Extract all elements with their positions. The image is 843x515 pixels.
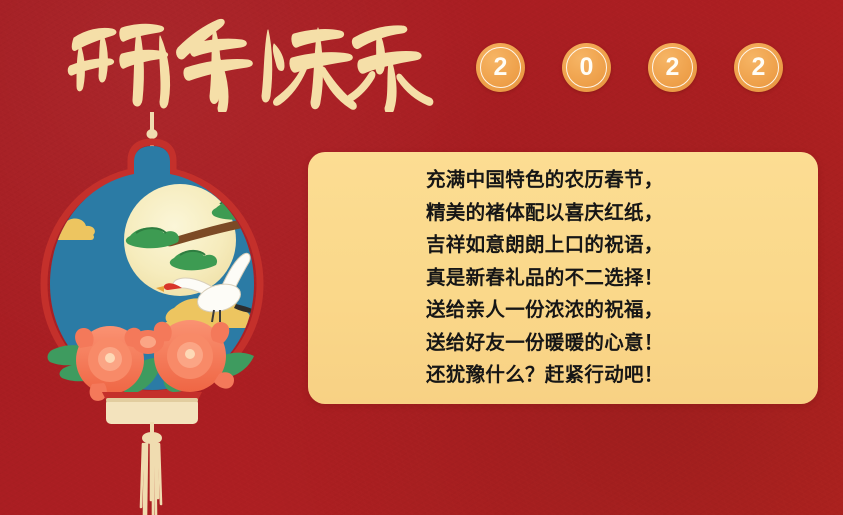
peony-bud	[132, 330, 164, 354]
message-line: 精美的褚体配以喜庆红纸，	[426, 197, 818, 230]
year-digit: 2	[666, 55, 680, 80]
lantern-tassel	[141, 422, 162, 515]
year-digit: 0	[580, 55, 594, 80]
message-line: 送给亲人一份浓浓的祝福，	[426, 294, 818, 327]
year-badge-digit-4: 2	[734, 43, 783, 92]
year-badge-group: 2 0 2 2	[476, 43, 783, 92]
lantern-base	[102, 392, 202, 424]
year-badge-digit-2: 0	[562, 43, 611, 92]
message-line: 真是新春礼品的不二选择！	[426, 262, 818, 295]
message-line: 充满中国特色的农历春节，	[426, 164, 818, 197]
message-card: 充满中国特色的农历春节， 精美的褚体配以喜庆红纸， 吉祥如意朗朗上口的祝语， 真…	[308, 152, 818, 404]
message-line: 送给好友一份暖暖的心意！	[426, 327, 818, 360]
year-digit: 2	[494, 55, 508, 80]
calligraphy-char-nian	[177, 19, 253, 112]
year-badge-digit-3: 2	[648, 43, 697, 92]
calligraphy-char-kuai	[262, 28, 356, 109]
calligraphy-char-le	[346, 26, 432, 112]
year-badge-digit-1: 2	[476, 43, 525, 92]
calligraphy-char-xin	[68, 24, 169, 108]
message-line: 吉祥如意朗朗上口的祝语，	[426, 229, 818, 262]
headline-calligraphy	[64, 8, 434, 112]
year-digit: 2	[752, 55, 766, 80]
peony-right	[154, 320, 234, 392]
message-line: 还犹豫什么？赶紧行动吧！	[426, 359, 818, 392]
new-year-poster: 2 0 2 2	[0, 0, 843, 515]
chinese-lantern-illustration	[14, 112, 290, 515]
